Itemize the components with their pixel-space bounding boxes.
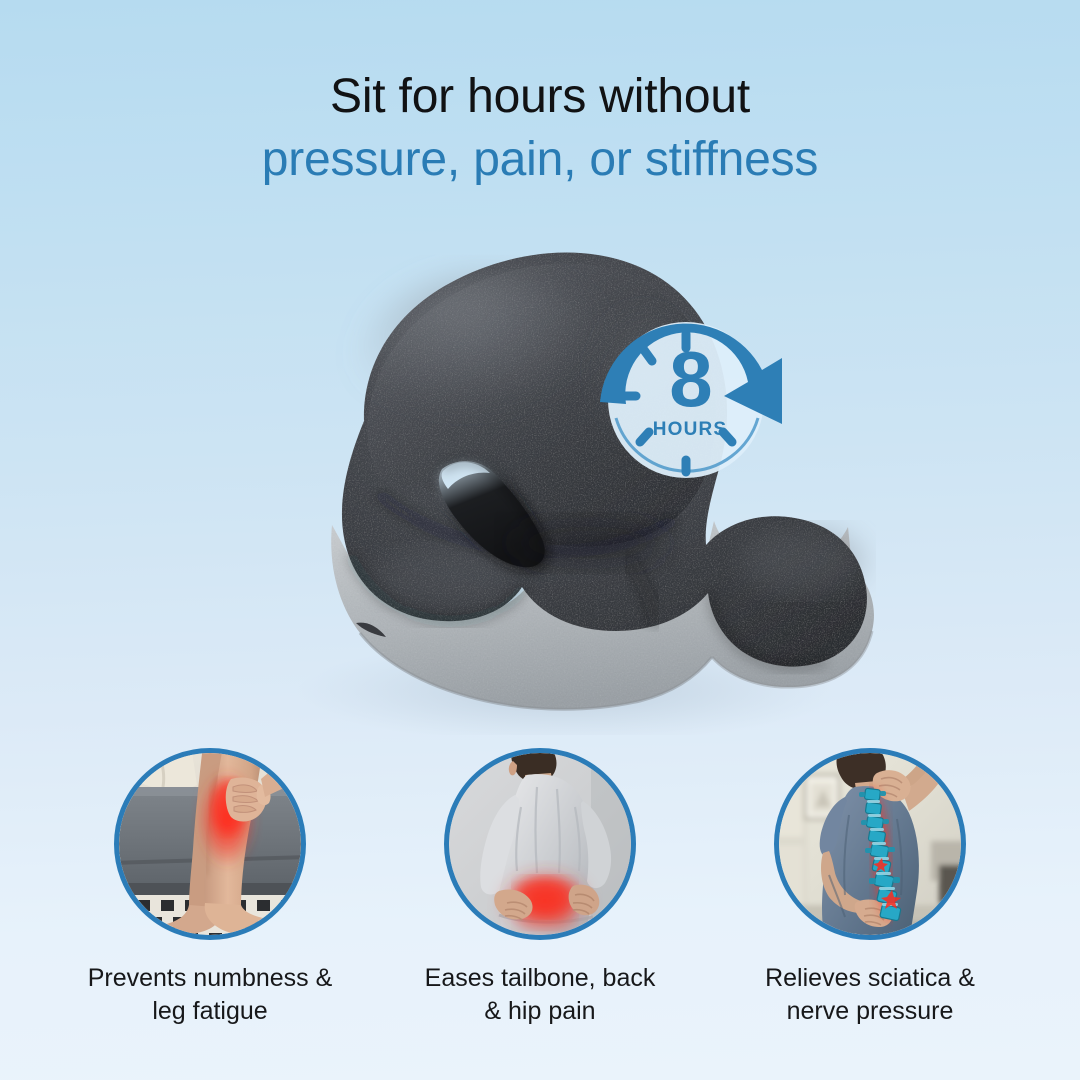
benefit-photo-ring-2	[444, 748, 636, 940]
benefit-photo-ring-3	[774, 748, 966, 940]
benefit-caption-1-line-2: leg fatigue	[60, 995, 360, 1028]
benefit-caption-3-line-1: Relieves sciatica &	[720, 962, 1020, 995]
benefit-caption-2: Eases tailbone, back & hip pain	[390, 962, 690, 1028]
benefit-caption-1: Prevents numbness & leg fatigue	[60, 962, 360, 1028]
sciatica-spine-overlay-image	[779, 753, 961, 935]
benefit-photo-ring-1	[114, 748, 306, 940]
benefits-row: Prevents numbness & leg fatigue	[0, 748, 1080, 1048]
benefit-caption-3: Relieves sciatica & nerve pressure	[720, 962, 1020, 1028]
headline-line-1: Sit for hours without	[0, 68, 1080, 126]
badge-8-hours: 8 HOURS	[586, 296, 794, 504]
benefit-leg-fatigue: Prevents numbness & leg fatigue	[60, 748, 360, 1028]
benefit-caption-1-line-1: Prevents numbness &	[60, 962, 360, 995]
benefit-caption-2-line-1: Eases tailbone, back	[390, 962, 690, 995]
product-marketing-graphic: Sit for hours without pressure, pain, or…	[0, 0, 1080, 1080]
legs-calf-pain-image	[119, 753, 301, 935]
badge-number: 8	[586, 340, 794, 418]
headline-block: Sit for hours without pressure, pain, or…	[0, 68, 1080, 190]
badge-label: HOURS	[586, 420, 794, 439]
benefit-sciatica: Relieves sciatica & nerve pressure	[720, 748, 1020, 1028]
lower-back-pain-image	[449, 753, 631, 935]
benefit-tailbone-pain: Eases tailbone, back & hip pain	[390, 748, 690, 1028]
headline-line-2: pressure, pain, or stiffness	[0, 130, 1080, 190]
benefit-caption-3-line-2: nerve pressure	[720, 995, 1020, 1028]
benefit-caption-2-line-2: & hip pain	[390, 995, 690, 1028]
